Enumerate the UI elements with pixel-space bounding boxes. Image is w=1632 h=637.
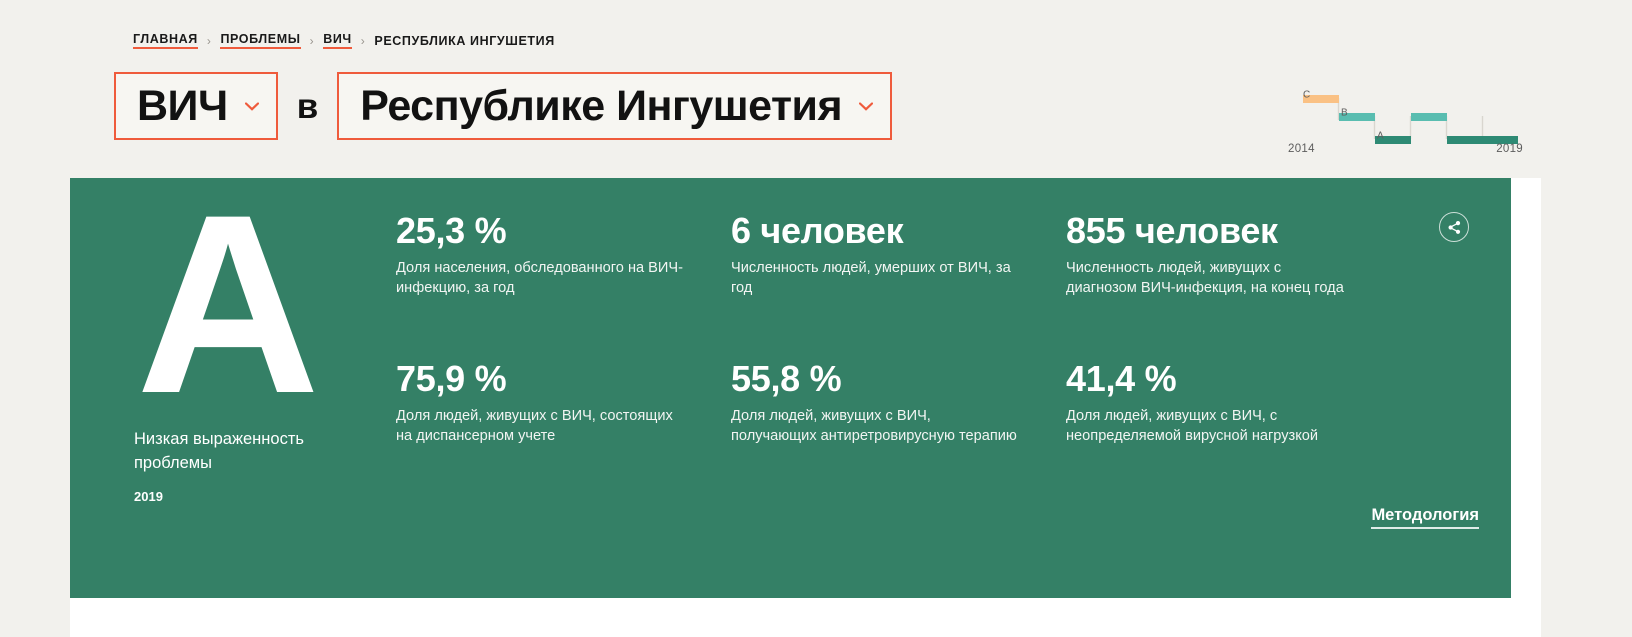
stat-label: Численность людей, умерших от ВИЧ, за го… [731, 258, 1019, 298]
sparkline-year-axis: 2014 2019 [1288, 143, 1523, 155]
stat-value: 41,4 % [1066, 360, 1376, 398]
stat-card-living-with-hiv: 855 человек Численность людей, живущих с… [1066, 212, 1406, 360]
stat-label: Доля населения, обследованного на ВИЧ-ин… [396, 258, 684, 298]
selector-row: ВИЧ в Республике Ингушетия [114, 72, 892, 140]
sparkline-year-end: 2019 [1496, 143, 1523, 155]
share-icon [1447, 220, 1462, 235]
problem-selector[interactable]: ВИЧ [114, 72, 278, 140]
share-button[interactable] [1439, 212, 1469, 242]
chevron-down-icon [859, 102, 873, 110]
stat-value: 75,9 % [396, 360, 701, 398]
stat-label: Численность людей, живущих с диагнозом В… [1066, 258, 1354, 298]
stat-label: Доля людей, живущих с ВИЧ, состоящих на … [396, 406, 684, 446]
svg-text:A: A [1377, 130, 1384, 141]
problem-selector-value: ВИЧ [137, 85, 228, 128]
region-summary-panel: A Низкая выраженность проблемы 2019 25,3… [70, 178, 1511, 598]
stat-card-deaths: 6 человек Численность людей, умерших от … [731, 212, 1066, 360]
stat-value: 6 человек [731, 212, 1036, 250]
stat-label: Доля людей, живущих с ВИЧ, с неопределяе… [1066, 406, 1354, 446]
stat-label: Доля людей, живущих с ВИЧ, получающих ан… [731, 406, 1019, 446]
grade-letter: A [136, 206, 384, 405]
breadcrumb-separator-icon: › [207, 34, 212, 48]
sparkline-year-start: 2014 [1288, 143, 1315, 155]
region-selector-value: Республике Ингушетия [360, 85, 842, 128]
stat-value: 55,8 % [731, 360, 1036, 398]
stat-card-dispensary-registration: 75,9 % Доля людей, живущих с ВИЧ, состоя… [396, 360, 731, 446]
breadcrumb: ГЛАВНАЯ › ПРОБЛЕМЫ › ВИЧ › РЕСПУБЛИКА ИН… [133, 32, 555, 49]
stat-card-antiretroviral-therapy: 55,8 % Доля людей, живущих с ВИЧ, получа… [731, 360, 1066, 446]
methodology-link[interactable]: Методология [1371, 506, 1479, 529]
grade-year: 2019 [134, 489, 384, 504]
svg-text:C: C [1303, 89, 1310, 100]
region-selector[interactable]: Республике Ингушетия [337, 72, 892, 140]
stat-card-tested-share: 25,3 % Доля населения, обследованного на… [396, 212, 731, 360]
grade-block: A Низкая выраженность проблемы 2019 [134, 206, 384, 504]
breadcrumb-item-problems[interactable]: ПРОБЛЕМЫ [220, 32, 300, 49]
stat-value: 855 человек [1066, 212, 1376, 250]
breadcrumb-item-current-region: РЕСПУБЛИКА ИНГУШЕТИЯ [374, 34, 554, 48]
breadcrumb-item-home[interactable]: ГЛАВНАЯ [133, 32, 198, 49]
breadcrumb-separator-icon: › [361, 34, 366, 48]
stat-card-undetectable-viral-load: 41,4 % Доля людей, живущих с ВИЧ, с неоп… [1066, 360, 1406, 446]
breadcrumb-separator-icon: › [310, 34, 315, 48]
selector-connector-word: в [297, 89, 319, 124]
chevron-down-icon [245, 102, 259, 110]
breadcrumb-item-hiv[interactable]: ВИЧ [323, 32, 352, 49]
stat-value: 25,3 % [396, 212, 701, 250]
svg-text:B: B [1341, 107, 1348, 118]
statistics-grid: 25,3 % Доля населения, обследованного на… [396, 212, 1436, 446]
